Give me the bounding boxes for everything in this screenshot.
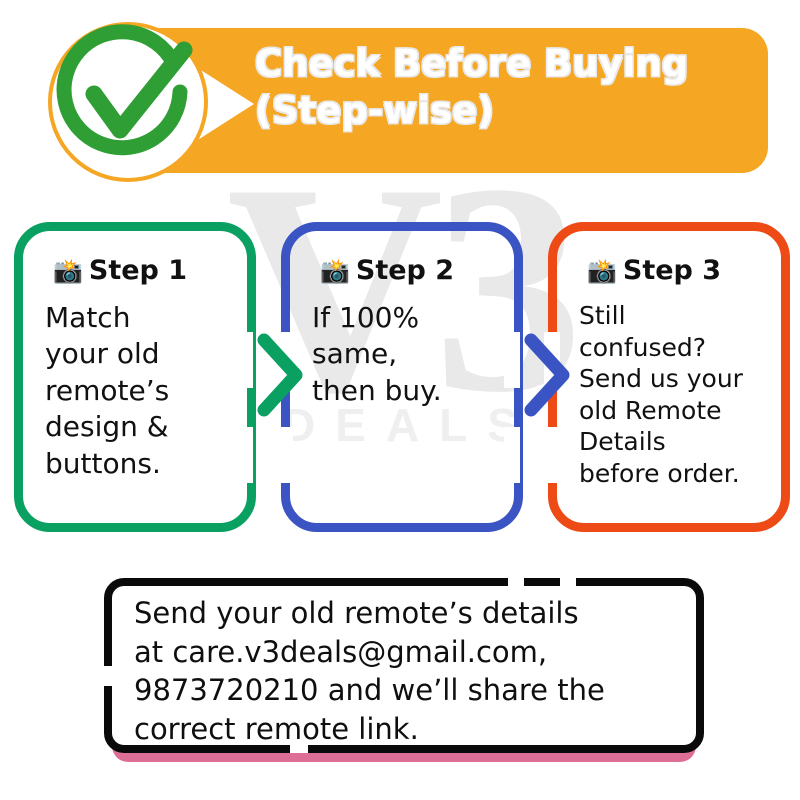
step-card-3[interactable]: 📸 Step 3 Still confused? Send us your ol… [548,222,790,532]
callout-notch-bottom [290,741,308,753]
step-1-right-gap [237,332,253,388]
step-2-right-gap [504,332,520,388]
camera-flash-icon: 📸 [587,259,617,283]
callout-notch-top-2 [560,576,576,588]
step-3-title: Step 3 [623,255,721,286]
step-card-1[interactable]: 📸 Step 1 Match your old remote’s design … [14,222,256,532]
step-2-left-gap-lower [277,427,293,483]
banner-title: Check Before Buying (Step-wise) [255,40,765,135]
step-1-right-gap-lower [237,427,253,483]
step-1-title-row: 📸 Step 1 [53,255,233,286]
step-1-body: Match your old remote’s design & buttons… [45,300,233,482]
header-banner: Check Before Buying (Step-wise) [0,0,800,210]
steps-row: 📸 Step 1 Match your old remote’s design … [0,222,800,542]
banner-title-line1: Check Before Buying [255,40,765,87]
step-1-title: Step 1 [89,255,187,286]
step-2-title-row: 📸 Step 2 [320,255,500,286]
step-card-2[interactable]: 📸 Step 2 If 100% same, then buy. [281,222,523,532]
callout-notch-left [102,666,114,686]
callout-text: Send your old remote’s details at care.v… [134,594,686,748]
step-2-right-gap-lower [504,427,520,483]
green-check-circle-icon [48,22,208,182]
step-2-title: Step 2 [356,255,454,286]
step-3-body: Still confused? Send us your old Remote … [579,300,767,489]
connector-chevron-1 [252,330,308,420]
step-2-body: If 100% same, then buy. [312,300,500,409]
banner-title-line2: (Step-wise) [255,87,765,134]
step-3-title-row: 📸 Step 3 [587,255,767,286]
step-3-left-gap-lower [544,427,560,483]
infographic-canvas: V3 DEALS Check Before Buying (Step-wise)… [0,0,800,800]
camera-flash-icon: 📸 [320,259,350,283]
connector-chevron-2 [519,330,575,420]
callout-box: Send your old remote’s details at care.v… [104,578,704,753]
contact-callout[interactable]: Send your old remote’s details at care.v… [104,578,704,778]
camera-flash-icon: 📸 [53,259,83,283]
callout-notch-top-1 [508,576,524,588]
